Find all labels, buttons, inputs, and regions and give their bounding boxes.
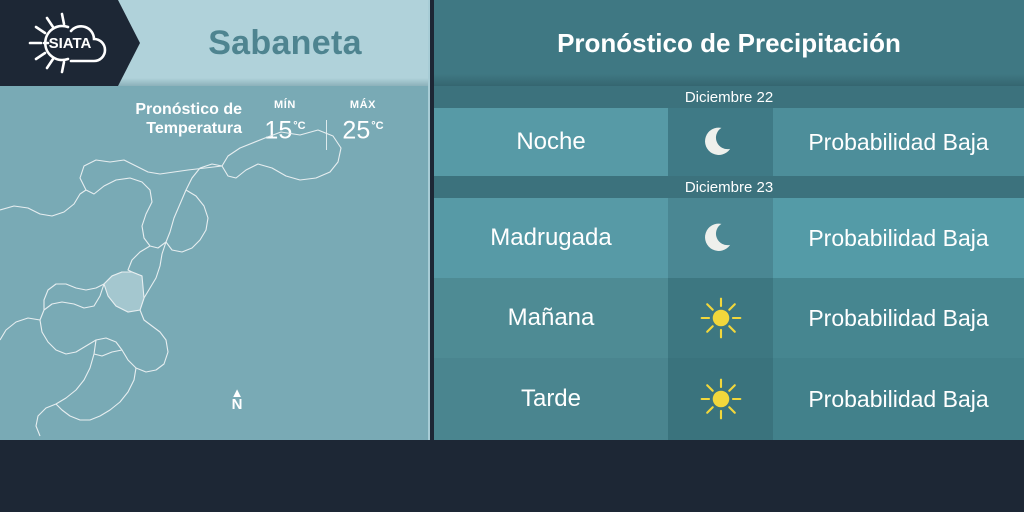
sun-icon bbox=[668, 358, 773, 440]
weather-forecast-card: SIATA Sabaneta Pronóstico de Temperatura… bbox=[0, 0, 1024, 512]
probability-label: Probabilidad Baja bbox=[773, 358, 1024, 440]
panel-divider bbox=[428, 0, 430, 440]
footer: @siatamedellin www.siata.gov.co Con el a… bbox=[0, 440, 1024, 512]
period-label: Madrugada bbox=[434, 198, 668, 278]
table-row[interactable]: Noche Probabilidad Baja bbox=[434, 108, 1024, 176]
probability-label: Probabilidad Baja bbox=[773, 198, 1024, 278]
period-label: Tarde bbox=[434, 358, 668, 440]
north-label: N bbox=[222, 397, 252, 413]
highlighted-municipality bbox=[104, 272, 144, 312]
date-band-1: Diciembre 22 bbox=[434, 86, 1024, 108]
period-label: Mañana bbox=[434, 278, 668, 358]
max-caption: MÁX bbox=[330, 98, 396, 112]
moon-icon bbox=[668, 198, 773, 278]
forecast-panel: Pronóstico de Precipitación Diciembre 22… bbox=[434, 0, 1024, 440]
table-row[interactable]: Tarde Probabilidad Baja bbox=[434, 358, 1024, 440]
logo-text: SIATA bbox=[49, 35, 92, 52]
municipality-map: ▲ N bbox=[0, 120, 430, 440]
probability-label: Probabilidad Baja bbox=[773, 108, 1024, 176]
forecast-title-shadow bbox=[434, 74, 1024, 86]
sun-cloud-icon: SIATA bbox=[14, 10, 126, 76]
left-panel: SIATA Sabaneta Pronóstico de Temperatura… bbox=[0, 0, 430, 440]
min-caption: MÍN bbox=[252, 98, 318, 112]
sun-icon bbox=[668, 278, 773, 358]
date-band-2: Diciembre 23 bbox=[434, 176, 1024, 198]
north-indicator: ▲ N bbox=[222, 388, 252, 413]
city-name: Sabaneta bbox=[140, 0, 430, 86]
period-label: Noche bbox=[434, 108, 668, 176]
moon-icon bbox=[668, 108, 773, 176]
probability-label: Probabilidad Baja bbox=[773, 278, 1024, 358]
table-row[interactable]: Madrugada Probabilidad Baja bbox=[434, 198, 1024, 278]
temperature-label-line1: Pronóstico de bbox=[62, 100, 242, 119]
table-row[interactable]: Mañana Probabilidad Baja bbox=[434, 278, 1024, 358]
